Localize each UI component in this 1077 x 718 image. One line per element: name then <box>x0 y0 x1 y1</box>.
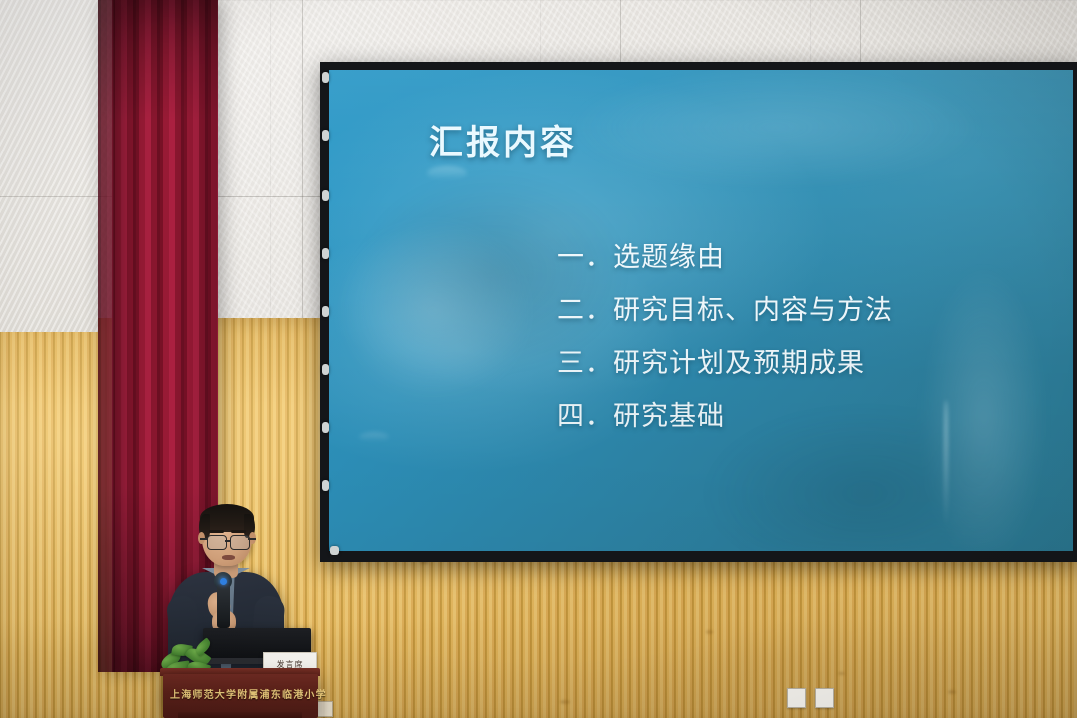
screen-mount-clip-icon <box>322 190 329 201</box>
wall-seam <box>0 196 98 197</box>
slide-item-number: 一． <box>557 235 613 274</box>
slide-list-item: 四． 研究基础 <box>557 394 893 433</box>
microphone-led-icon <box>220 578 227 585</box>
wall-socket-plate <box>815 688 834 708</box>
slide-item-text: 研究目标、内容与方法 <box>613 288 893 327</box>
slide-outline-list: 一． 选题缘由 二． 研究目标、内容与方法 三． 研究计划及预期成果 四． 研究… <box>557 235 893 447</box>
glasses-icon <box>230 535 250 550</box>
screen-mount-clip-icon <box>322 422 329 433</box>
glasses-icon <box>207 535 227 550</box>
microphone-body <box>217 584 230 628</box>
slide-content: 汇报内容 一． 选题缘由 二． 研究目标、内容与方法 三． 研究计划及预期成果 <box>329 70 1073 551</box>
slide-item-number: 四． <box>557 394 613 433</box>
projection-screen-frame: 汇报内容 一． 选题缘由 二． 研究目标、内容与方法 三． 研究计划及预期成果 <box>320 62 1077 562</box>
screen-light-streak <box>944 400 948 530</box>
stage-curtain-fold <box>98 0 114 672</box>
slide-list-item: 三． 研究计划及预期成果 <box>557 341 893 380</box>
wall-seam <box>620 0 621 64</box>
slide-item-number: 二． <box>557 288 613 327</box>
glasses-arm-icon <box>200 538 208 540</box>
screen-mount-clip-icon <box>322 480 329 491</box>
wood-grain-knot <box>560 700 570 704</box>
screen-mount-clip-icon <box>330 546 339 555</box>
podium-engraved-text: 上海师范大学附属浦东临港小学 <box>170 686 327 701</box>
projection-screen-surface: 汇报内容 一． 选题缘由 二． 研究目标、内容与方法 三． 研究计划及预期成果 <box>329 70 1073 551</box>
presenter-eyebrow <box>209 530 224 533</box>
screen-mount-clip-icon <box>322 306 329 317</box>
slide-item-text: 选题缘由 <box>613 235 725 274</box>
screen-light-streak <box>427 166 467 180</box>
wood-grain-knot <box>706 630 713 634</box>
presenter-mouth <box>222 555 235 560</box>
wall-seam <box>860 0 861 64</box>
wood-grain-knot <box>948 690 956 694</box>
screen-mount-clip-icon <box>322 72 329 83</box>
slide-item-text: 研究计划及预期成果 <box>613 341 865 380</box>
glasses-bridge-icon <box>225 540 230 542</box>
slide-title: 汇报内容 <box>429 115 577 164</box>
slide-item-text: 研究基础 <box>613 394 725 433</box>
glasses-arm-icon <box>248 538 256 540</box>
screen-mount-clip-icon <box>322 248 329 259</box>
slide-item-number: 三． <box>557 341 613 380</box>
screen-mount-clip-icon <box>322 364 329 375</box>
wall-socket-plate <box>317 701 333 717</box>
podium-base <box>178 712 302 718</box>
wall-socket-plate <box>787 688 806 708</box>
screen-light-streak <box>359 432 389 442</box>
screen-mount-clip-icon <box>322 130 329 141</box>
stone-column-left-texture <box>0 0 98 332</box>
slide-list-item: 一． 选题缘由 <box>557 235 893 274</box>
lecture-hall-photo: 汇报内容 一． 选题缘由 二． 研究目标、内容与方法 三． 研究计划及预期成果 <box>0 0 1077 718</box>
wood-grain-knot <box>838 672 845 675</box>
presenter-eyebrow <box>231 530 246 533</box>
slide-list-item: 二． 研究目标、内容与方法 <box>557 288 893 327</box>
